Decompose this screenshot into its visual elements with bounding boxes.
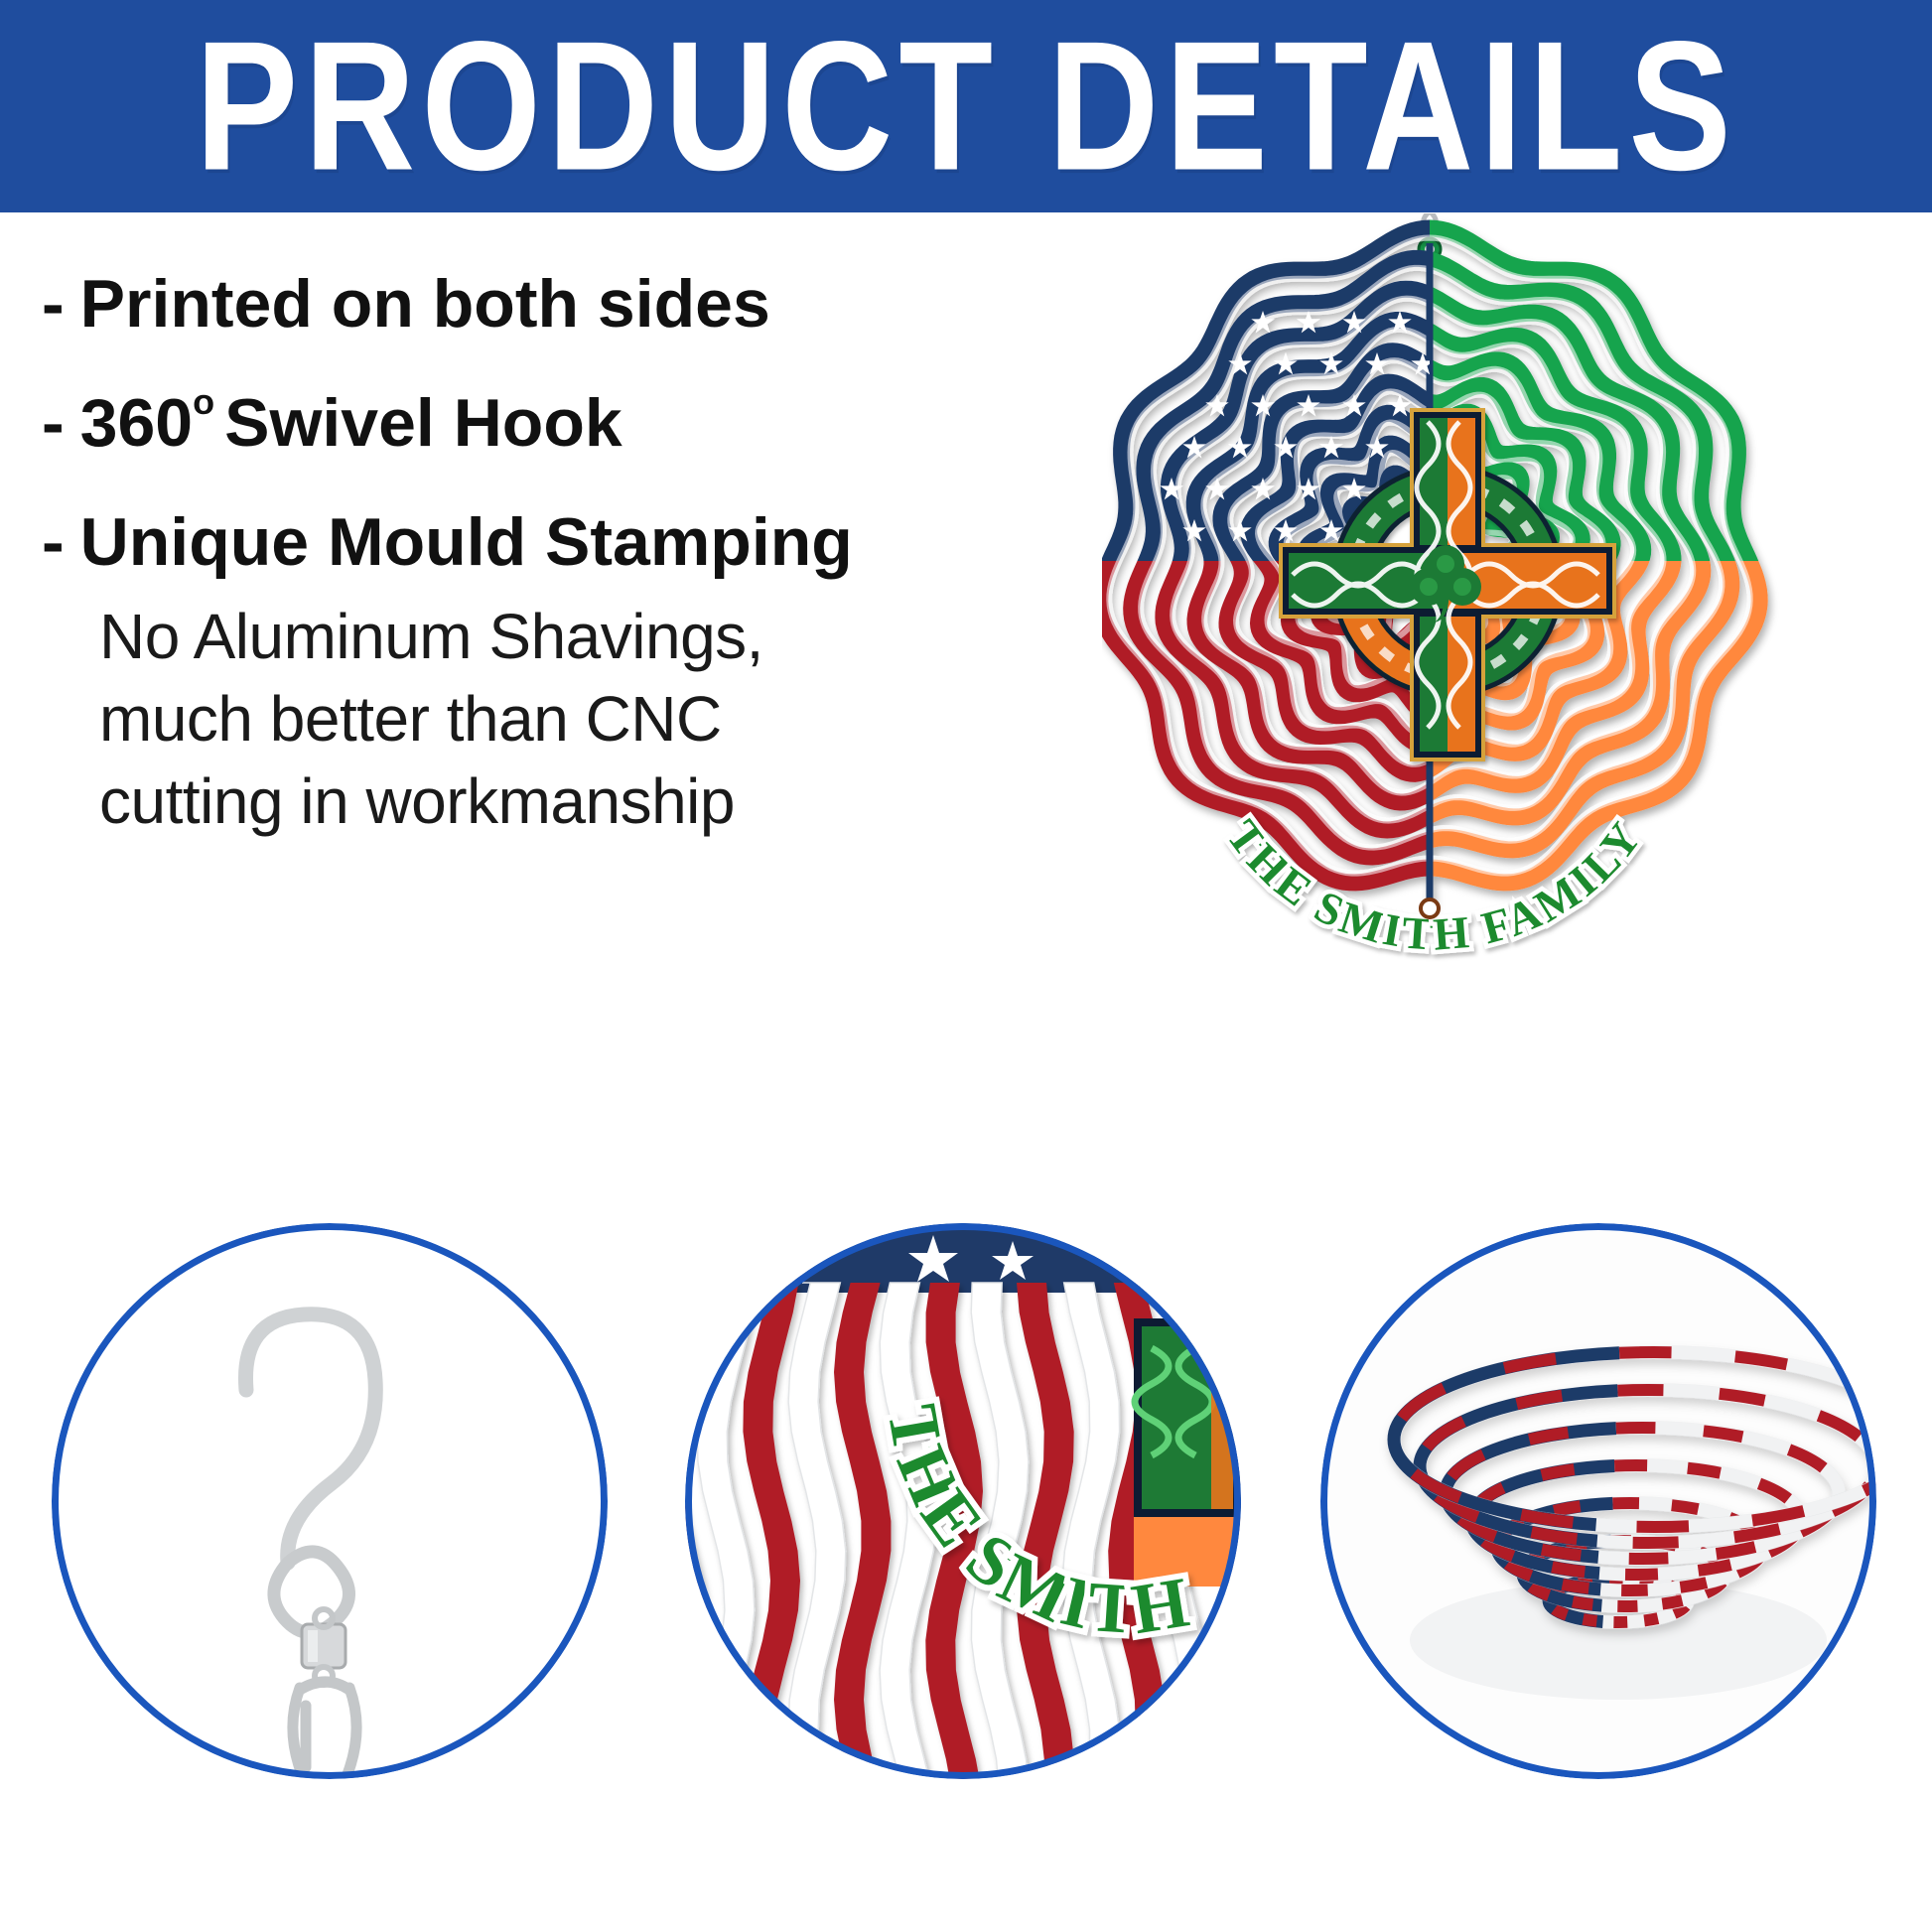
detail-circle-row: THE SMITH — [0, 1223, 1932, 1794]
paragraph-line: No Aluminum Shavings, — [99, 596, 935, 678]
feature-label-mould: Unique Mould Stamping — [80, 508, 853, 576]
bullet-dash-icon: - — [42, 270, 65, 338]
feature-list: - Printed on both sides - 360oSwivel Hoo… — [42, 270, 935, 844]
product-details-page: PRODUCT DETAILS - Printed on both sides … — [0, 0, 1932, 1932]
wind-spinner-image: THE SMITH FAMILY — [1102, 213, 1817, 1067]
feature-label-printed: Printed on both sides — [80, 270, 770, 338]
celtic-corner-fragment — [1134, 1318, 1241, 1517]
swivel-suffix: Swivel Hook — [224, 385, 622, 461]
feature-item-printed: - Printed on both sides — [42, 270, 935, 338]
detail-circle-layered-edge — [1320, 1223, 1876, 1779]
feature-paragraph: No Aluminum Shavings, much better than C… — [99, 596, 935, 844]
circle-image-swivel-hook — [52, 1223, 608, 1779]
detail-circle-swivel-hook — [52, 1223, 608, 1779]
degree-symbol-icon: o — [193, 381, 214, 422]
paragraph-line: cutting in workmanship — [99, 760, 935, 843]
bullet-dash-icon: - — [42, 508, 65, 576]
wind-spinner-svg: THE SMITH FAMILY — [1102, 213, 1817, 1067]
page-title: PRODUCT DETAILS — [195, 14, 1736, 198]
bottom-hole-icon — [1421, 899, 1439, 917]
detail-circle-stripes-name: THE SMITH — [685, 1223, 1241, 1779]
bullet-dash-icon: - — [42, 389, 65, 457]
feature-item-swivel: - 360oSwivel Hook — [42, 389, 935, 457]
feature-label-swivel: 360oSwivel Hook — [80, 389, 622, 457]
header-banner: PRODUCT DETAILS — [0, 0, 1932, 212]
circle-image-stripes-name: THE SMITH — [685, 1223, 1241, 1779]
paragraph-line: much better than CNC — [99, 678, 935, 760]
feature-item-mould: - Unique Mould Stamping — [42, 508, 935, 576]
swivel-number: 360 — [80, 385, 193, 461]
circle-image-layered-edge — [1320, 1223, 1876, 1779]
